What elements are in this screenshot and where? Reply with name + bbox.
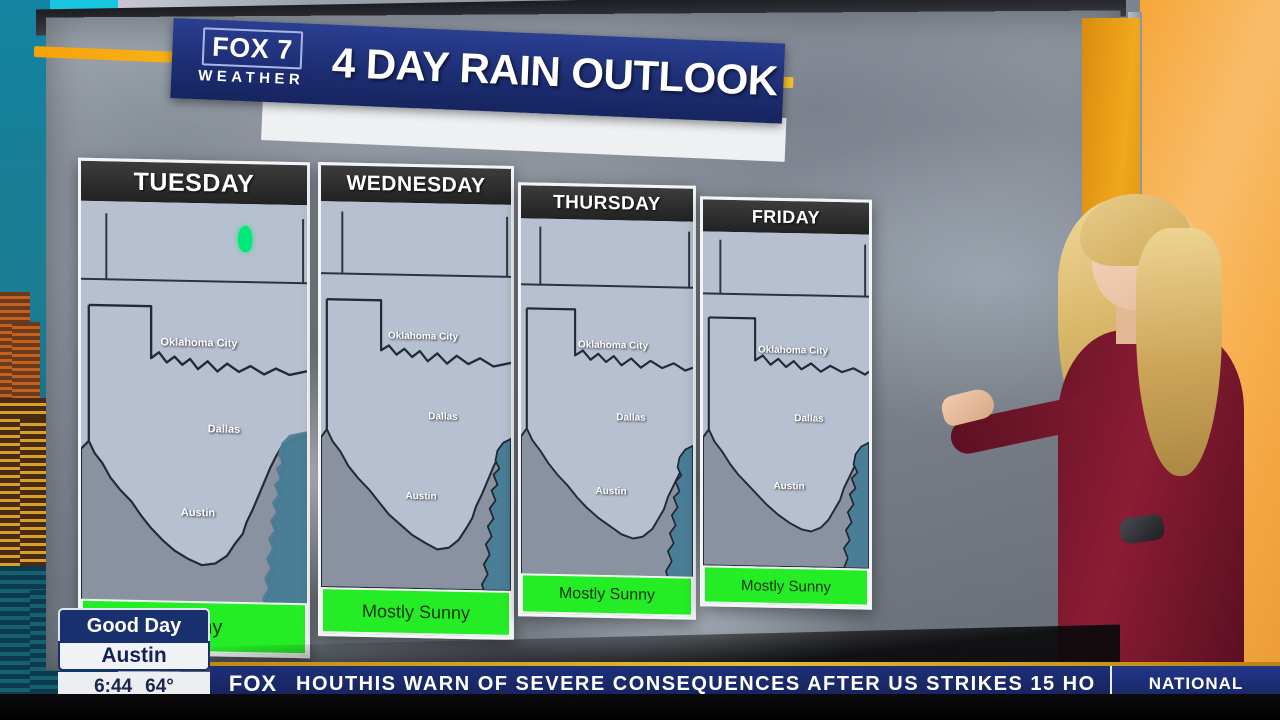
show-name-line2-box: Austin	[58, 641, 210, 671]
map-svg	[321, 201, 511, 591]
day-header-thursday: THURSDAY	[521, 185, 693, 221]
fox7-logo-box: FOX 7	[201, 27, 303, 69]
weather-logo-text: WEATHER	[198, 67, 305, 88]
condition-label: Mostly Sunny	[741, 577, 831, 596]
city-label-oklahoma-city: Oklahoma City	[388, 330, 458, 342]
screen-bottom-edge	[0, 694, 1280, 720]
city-label-austin: Austin	[405, 491, 436, 503]
forecast-panel-group: TUESDAY Oklahoma City Dallas Austin	[78, 150, 928, 660]
show-name-line2: Austin	[101, 644, 166, 668]
forecast-panel-tuesday[interactable]: TUESDAY Oklahoma City Dallas Austin	[78, 158, 310, 659]
map-svg	[521, 218, 693, 577]
day-header-tuesday: TUESDAY	[81, 161, 307, 206]
city-label-dallas: Dallas	[616, 412, 645, 424]
fox7-logo-text: FOX 7	[212, 32, 294, 65]
texas-map-tuesday: Oklahoma City Dallas Austin	[81, 201, 307, 608]
day-header-wednesday: WEDNESDAY	[321, 165, 511, 205]
condition-box-thursday: Mostly Sunny	[521, 573, 693, 616]
station-bug: Good Day Austin 6:44 64°	[58, 608, 210, 686]
day-header-friday: FRIDAY	[703, 199, 869, 234]
day-label: TUESDAY	[134, 167, 255, 198]
broadcast-frame: FOX 7 WEATHER 4 DAY RAIN OUTLOOK TUESDAY	[0, 0, 1280, 720]
city-label-dallas: Dallas	[794, 413, 823, 425]
texas-map-thursday: Oklahoma City Dallas Austin	[521, 218, 693, 577]
city-label-dallas: Dallas	[208, 423, 240, 436]
forecast-panel-wednesday[interactable]: WEDNESDAY Oklahoma City Dallas Austin	[318, 162, 514, 640]
texas-map-friday: Oklahoma City Dallas Austin	[703, 231, 869, 568]
condition-box-friday: Mostly Sunny	[703, 565, 869, 606]
city-label-austin: Austin	[181, 507, 215, 520]
day-label: THURSDAY	[553, 191, 661, 215]
map-svg	[81, 201, 307, 608]
radar-echo-blip	[238, 226, 252, 252]
forecast-panel-friday[interactable]: FRIDAY Oklahoma City Dallas Austin	[700, 196, 872, 609]
day-label: WEDNESDAY	[346, 172, 485, 199]
city-label-oklahoma-city: Oklahoma City	[160, 336, 237, 350]
city-label-oklahoma-city: Oklahoma City	[758, 344, 828, 356]
city-label-austin: Austin	[773, 481, 804, 493]
fox7-weather-logo: FOX 7 WEATHER	[185, 27, 320, 98]
show-name-line1-box: Good Day	[58, 608, 210, 642]
city-label-austin: Austin	[595, 486, 626, 498]
condition-label: Mostly Sunny	[362, 600, 470, 623]
city-label-oklahoma-city: Oklahoma City	[578, 339, 648, 351]
map-svg	[703, 231, 869, 568]
city-label-dallas: Dallas	[428, 411, 457, 423]
ticker-category-label: NATIONAL	[1149, 674, 1244, 694]
condition-label: Mostly Sunny	[559, 585, 655, 605]
forecast-panel-thursday[interactable]: THURSDAY Oklahoma City Dallas Austin	[518, 182, 696, 620]
show-name-line1: Good Day	[87, 615, 181, 638]
texas-map-wednesday: Oklahoma City Dallas Austin	[321, 201, 511, 591]
condition-box-wednesday: Mostly Sunny	[321, 587, 511, 637]
day-label: FRIDAY	[752, 206, 820, 228]
